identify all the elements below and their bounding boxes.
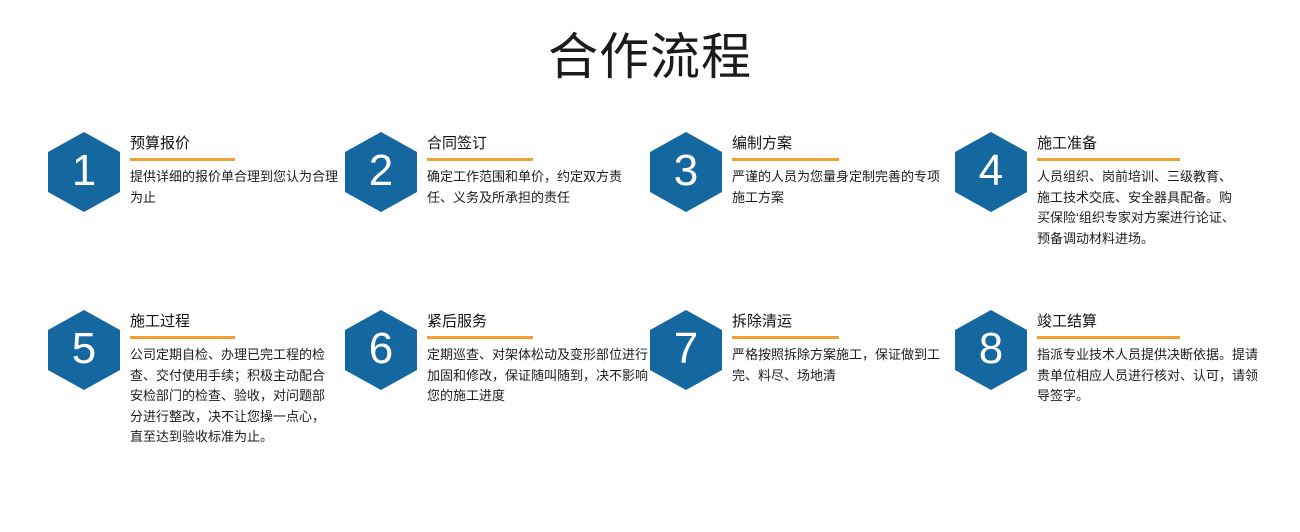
step-item-7: 7 拆除清运 严格按照拆除方案施工，保证做到工完、料尽、场地清 bbox=[650, 308, 950, 390]
step-item-2: 2 合同签订 确定工作范围和单价，约定双方责任、义务及所承担的责任 bbox=[345, 130, 645, 212]
hexagon-badge-6: 6 bbox=[345, 310, 417, 390]
step-number: 6 bbox=[345, 310, 417, 390]
step-text-block-8: 竣工结算 指派专业技术人员提供决断依据。提请贵单位相应人员进行核对、认可，请领导… bbox=[1037, 308, 1275, 407]
hexagon-badge-5: 5 bbox=[48, 310, 120, 390]
step-number: 7 bbox=[650, 310, 722, 390]
step-text-block-1: 预算报价 提供详细的报价单合理到您认为合理为止 bbox=[130, 130, 348, 208]
step-title: 合同签订 bbox=[427, 134, 645, 154]
page-title: 合作流程 bbox=[0, 26, 1300, 88]
step-number: 2 bbox=[345, 132, 417, 212]
hexagon-badge-8: 8 bbox=[955, 310, 1027, 390]
step-item-6: 6 紧后服务 定期巡查、对架体松动及变形部位进行加固和修改，保证随叫随到，决不影… bbox=[345, 308, 645, 407]
title-underline bbox=[130, 336, 235, 339]
step-number: 4 bbox=[955, 132, 1027, 212]
step-description: 人员组织、岗前培训、三级教育、施工技术交底、安全器具配备。购买保险‘组织专家对方… bbox=[1037, 167, 1242, 249]
step-text-block-2: 合同签订 确定工作范围和单价，约定双方责任、义务及所承担的责任 bbox=[427, 130, 645, 208]
title-underline bbox=[1037, 158, 1180, 161]
cooperation-process-infographic: 合作流程 1 预算报价 提供详细的报价单合理到您认为合理为止 2 bbox=[0, 0, 1300, 532]
step-title: 编制方案 bbox=[732, 134, 950, 154]
step-description: 严格按照拆除方案施工，保证做到工完、料尽、场地清 bbox=[732, 345, 950, 386]
step-number: 3 bbox=[650, 132, 722, 212]
step-text-block-4: 施工准备 人员组织、岗前培训、三级教育、施工技术交底、安全器具配备。购买保险‘组… bbox=[1037, 130, 1275, 249]
step-description: 提供详细的报价单合理到您认为合理为止 bbox=[130, 167, 340, 208]
step-item-4: 4 施工准备 人员组织、岗前培训、三级教育、施工技术交底、安全器具配备。购买保险… bbox=[955, 130, 1275, 249]
step-title: 拆除清运 bbox=[732, 312, 950, 332]
step-text-block-7: 拆除清运 严格按照拆除方案施工，保证做到工完、料尽、场地清 bbox=[732, 308, 950, 386]
steps-row-1: 1 预算报价 提供详细的报价单合理到您认为合理为止 2 合同签订 确定工作范围和… bbox=[0, 130, 1300, 308]
step-description: 公司定期自检、办理已完工程的检查、交付使用手续；积极主动配合安检部门的检查、验收… bbox=[130, 345, 330, 448]
hexagon-badge-3: 3 bbox=[650, 132, 722, 212]
step-description: 确定工作范围和单价，约定双方责任、义务及所承担的责任 bbox=[427, 167, 645, 208]
step-text-block-3: 编制方案 严谨的人员为您量身定制完善的专项施工方案 bbox=[732, 130, 950, 208]
step-item-3: 3 编制方案 严谨的人员为您量身定制完善的专项施工方案 bbox=[650, 130, 950, 212]
step-item-5: 5 施工过程 公司定期自检、办理已完工程的检查、交付使用手续；积极主动配合安检部… bbox=[48, 308, 348, 448]
step-description: 严谨的人员为您量身定制完善的专项施工方案 bbox=[732, 167, 947, 208]
title-underline bbox=[130, 158, 235, 161]
step-title: 紧后服务 bbox=[427, 312, 645, 332]
step-number: 1 bbox=[48, 132, 120, 212]
step-number: 5 bbox=[48, 310, 120, 390]
step-text-block-5: 施工过程 公司定期自检、办理已完工程的检查、交付使用手续；积极主动配合安检部门的… bbox=[130, 308, 348, 448]
step-item-1: 1 预算报价 提供详细的报价单合理到您认为合理为止 bbox=[48, 130, 348, 212]
hexagon-badge-7: 7 bbox=[650, 310, 722, 390]
title-underline bbox=[1037, 336, 1180, 339]
step-description: 指派专业技术人员提供决断依据。提请贵单位相应人员进行核对、认可，请领导签字。 bbox=[1037, 345, 1265, 407]
step-title: 竣工结算 bbox=[1037, 312, 1275, 332]
title-underline bbox=[427, 336, 533, 339]
steps-container: 1 预算报价 提供详细的报价单合理到您认为合理为止 2 合同签订 确定工作范围和… bbox=[0, 130, 1300, 508]
hexagon-badge-1: 1 bbox=[48, 132, 120, 212]
step-description: 定期巡查、对架体松动及变形部位进行加固和修改，保证随叫随到，决不影响您的施工进度 bbox=[427, 345, 652, 407]
title-underline bbox=[732, 158, 839, 161]
title-underline bbox=[732, 336, 839, 339]
step-title: 预算报价 bbox=[130, 134, 348, 154]
step-title: 施工过程 bbox=[130, 312, 348, 332]
step-number: 8 bbox=[955, 310, 1027, 390]
hexagon-badge-4: 4 bbox=[955, 132, 1027, 212]
hexagon-badge-2: 2 bbox=[345, 132, 417, 212]
title-underline bbox=[427, 158, 533, 161]
steps-row-2: 5 施工过程 公司定期自检、办理已完工程的检查、交付使用手续；积极主动配合安检部… bbox=[0, 308, 1300, 508]
step-text-block-6: 紧后服务 定期巡查、对架体松动及变形部位进行加固和修改，保证随叫随到，决不影响您… bbox=[427, 308, 645, 407]
step-title: 施工准备 bbox=[1037, 134, 1275, 154]
step-item-8: 8 竣工结算 指派专业技术人员提供决断依据。提请贵单位相应人员进行核对、认可，请… bbox=[955, 308, 1275, 407]
